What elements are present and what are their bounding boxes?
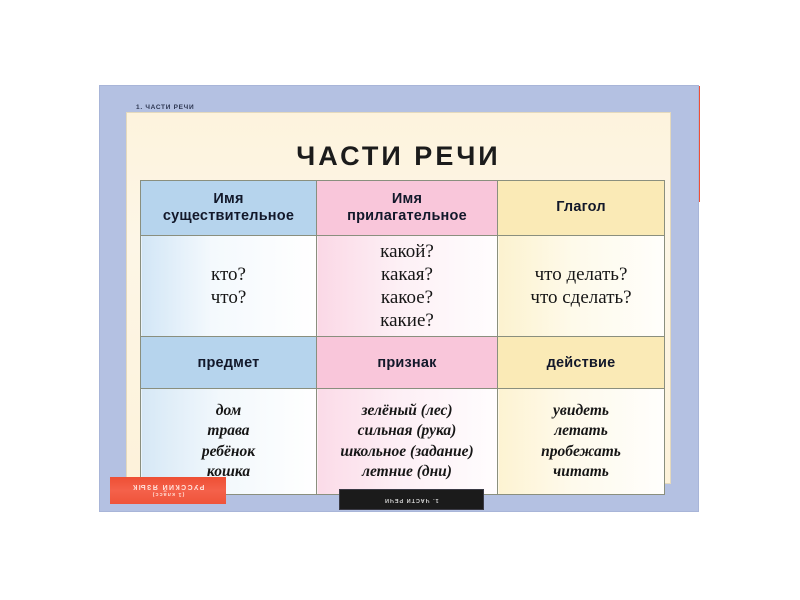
poster-page: ЧАСТИ РЕЧИ Имя существительное Имя прила…: [126, 112, 671, 484]
question-adjective-2: какая?: [317, 263, 497, 286]
header-noun-line2: существительное: [141, 208, 316, 225]
example-adjective-4: летние (дни): [317, 462, 497, 482]
example-verb-2: летать: [498, 421, 664, 441]
meaning-cell-verb: действие: [498, 337, 665, 389]
table-row-meanings: предмет признак действие: [141, 337, 665, 389]
question-noun-1: кто?: [141, 263, 316, 286]
examples-cell-adjective: зелёный (лес) сильная (рука) школьное (з…: [317, 389, 498, 495]
banner-bottom: 1. ЧАСТИ РЕЧИ: [339, 489, 484, 510]
question-verb-2: что сделать?: [498, 286, 664, 309]
example-verb-1: увидеть: [498, 401, 664, 421]
example-noun-2: трава: [141, 421, 316, 441]
page-title: ЧАСТИ РЕЧИ: [127, 141, 670, 172]
questions-cell-adjective: какой? какая? какое? какие?: [317, 236, 498, 337]
example-adjective-3: школьное (задание): [317, 442, 497, 462]
header-cell-noun: Имя существительное: [141, 181, 317, 236]
questions-cell-noun: кто? что?: [141, 236, 317, 337]
example-verb-4: читать: [498, 462, 664, 482]
question-adjective-1: какой?: [317, 240, 497, 263]
poster-stage: 1. ЧАСТИ РЕЧИ ЧАСТИ РЕЧИ ЧАСТИ РЕЧИ Имя …: [0, 0, 800, 600]
table-row-questions: кто? что? какой? какая? какое? какие?: [141, 236, 665, 337]
examples-cell-verb: увидеть летать пробежать читать: [498, 389, 665, 495]
table-row-headers: Имя существительное Имя прилагательное Г…: [141, 181, 665, 236]
question-adjective-3: какое?: [317, 286, 497, 309]
example-noun-1: дом: [141, 401, 316, 421]
header-cell-adjective: Имя прилагательное: [317, 181, 498, 236]
parts-of-speech-table: Имя существительное Имя прилагательное Г…: [140, 180, 665, 495]
header-cell-verb: Глагол: [498, 181, 665, 236]
meaning-cell-noun: предмет: [141, 337, 317, 389]
question-noun-2: что?: [141, 286, 316, 309]
banner-bottom-text: 1. ЧАСТИ РЕЧИ: [384, 497, 439, 503]
header-verb-line1: Глагол: [498, 199, 664, 216]
bottom-tab-subject-text: РУССКИЙ ЯЗЫК: [132, 484, 205, 491]
bottom-tab-grade: (1 класс): [152, 492, 185, 498]
example-verb-3: пробежать: [498, 442, 664, 462]
questions-cell-verb: что делать? что сделать?: [498, 236, 665, 337]
question-verb-1: что делать?: [498, 263, 664, 286]
poster-board: ЧАСТИ РЕЧИ Имя существительное Имя прила…: [100, 86, 698, 511]
question-adjective-4: какие?: [317, 309, 497, 332]
meaning-cell-adjective: признак: [317, 337, 498, 389]
example-adjective-1: зелёный (лес): [317, 401, 497, 421]
corner-caption: 1. ЧАСТИ РЕЧИ: [136, 104, 194, 111]
example-noun-3: ребёнок: [141, 442, 316, 462]
header-adjective-line2: прилагательное: [317, 208, 497, 225]
bottom-tab-subject: (1 класс) РУССКИЙ ЯЗЫК: [110, 477, 226, 504]
example-adjective-2: сильная (рука): [317, 421, 497, 441]
header-adjective-line1: Имя: [317, 191, 497, 208]
header-noun-line1: Имя: [141, 191, 316, 208]
